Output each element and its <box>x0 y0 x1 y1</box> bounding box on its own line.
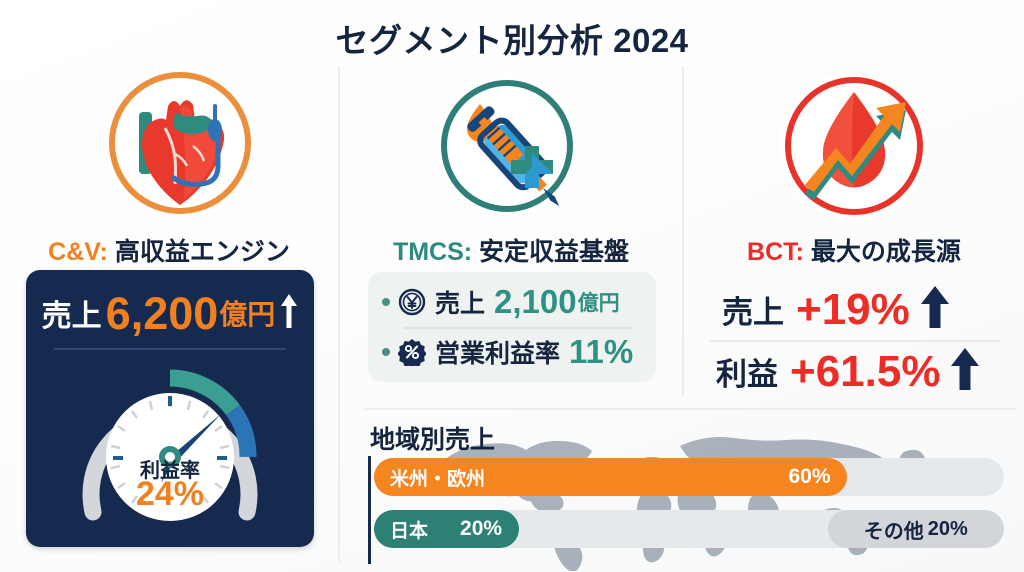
region-bar-track-japan-other: 日本 20% その他 20% <box>374 510 1004 548</box>
tmcs-revenue-label: 売上 <box>435 284 485 320</box>
column-heading-cv: C&V: 高収益エンジン <box>0 232 338 268</box>
heart-catheter-icon <box>105 68 255 218</box>
bullet-dot-icon <box>382 298 390 306</box>
cv-revenue-unit: 億円 <box>219 293 275 333</box>
column-name-tmcs: 安定収益基盤 <box>472 238 629 266</box>
tmcs-metric-card: 売上 2,100 億円 営業利益率 11% <box>368 272 656 382</box>
column-divider-2 <box>682 66 684 396</box>
region-bar-track-americas-europe: 米州・欧州 60% <box>374 458 1004 496</box>
cv-revenue-label: 売上 <box>42 291 102 335</box>
tmcs-revenue-row: 売上 2,100 億円 <box>368 278 656 326</box>
percent-badge-icon <box>398 338 426 366</box>
cv-revenue-row: 売上 6,200 億円 <box>26 286 314 340</box>
yen-coin-icon <box>398 288 426 316</box>
gauge-value: 24% <box>75 475 265 514</box>
region-bar-label-other: その他 <box>864 515 924 544</box>
syringe-cross-icon <box>437 76 577 216</box>
bct-row-divider <box>710 340 1000 342</box>
page-title: セグメント別分析 2024 <box>0 14 1024 62</box>
cv-metric-card: 売上 6,200 億円 <box>26 270 314 547</box>
cv-profit-gauge: 利益率 24% <box>75 362 265 543</box>
bullet-dot-icon <box>382 348 390 356</box>
bottom-section-divider <box>364 408 1016 410</box>
tmcs-margin-value: 11% <box>569 333 633 371</box>
bct-profit-value: +61.5% <box>790 350 940 394</box>
blood-drop-growth-icon <box>780 72 928 220</box>
tmcs-margin-label: 営業利益率 <box>435 334 560 370</box>
column-name-cv: 高収益エンジン <box>108 238 290 266</box>
cv-card-divider <box>54 348 286 350</box>
column-key-cv: C&V: <box>48 238 108 266</box>
region-sales-chart: 地域別売上 米州・欧州 60% 日本 20% その他 20% <box>364 412 1020 572</box>
arrow-up-icon <box>920 284 950 335</box>
arrow-up-icon <box>280 292 298 335</box>
region-bar-fill-japan: 日本 20% <box>374 510 519 548</box>
column-divider-1 <box>338 66 340 562</box>
tmcs-margin-row: 営業利益率 11% <box>368 328 656 376</box>
column-name-bct: 最大の成長源 <box>804 238 961 266</box>
region-bar-label-americas-europe: 米州・欧州 <box>390 464 485 491</box>
bct-revenue-row: 売上 +19% <box>722 284 950 335</box>
region-bar-label-japan: 日本 <box>390 516 428 543</box>
infographic-root: セグメント別分析 2024 C&V: 高収益エンジン 売上 6,200 億円 <box>0 0 1024 572</box>
bct-profit-row: 利益 +61.5% <box>716 346 980 397</box>
region-bar-fill-americas-europe: 米州・欧州 60% <box>374 458 847 496</box>
column-heading-bct: BCT: 最大の成長源 <box>684 232 1024 268</box>
region-chart-title: 地域別売上 <box>370 420 495 456</box>
tmcs-revenue-unit: 億円 <box>578 287 620 317</box>
bct-revenue-value: +19% <box>796 288 910 332</box>
region-bar-value-americas-europe: 60% <box>788 465 830 489</box>
region-chart-axis <box>368 456 371 564</box>
region-bar-fill-other: その他 20% <box>828 510 1004 548</box>
tmcs-revenue-value: 2,100 <box>494 283 577 321</box>
bct-revenue-label: 売上 <box>722 287 784 332</box>
region-bar-value-japan: 20% <box>460 517 502 541</box>
region-bar-value-other: 20% <box>928 518 968 541</box>
column-key-bct: BCT: <box>747 238 804 266</box>
bct-profit-label: 利益 <box>716 349 778 394</box>
column-heading-tmcs: TMCS: 安定収益基盤 <box>340 232 682 268</box>
column-key-tmcs: TMCS: <box>393 238 472 266</box>
arrow-up-icon <box>950 346 980 397</box>
cv-revenue-value: 6,200 <box>106 291 219 336</box>
